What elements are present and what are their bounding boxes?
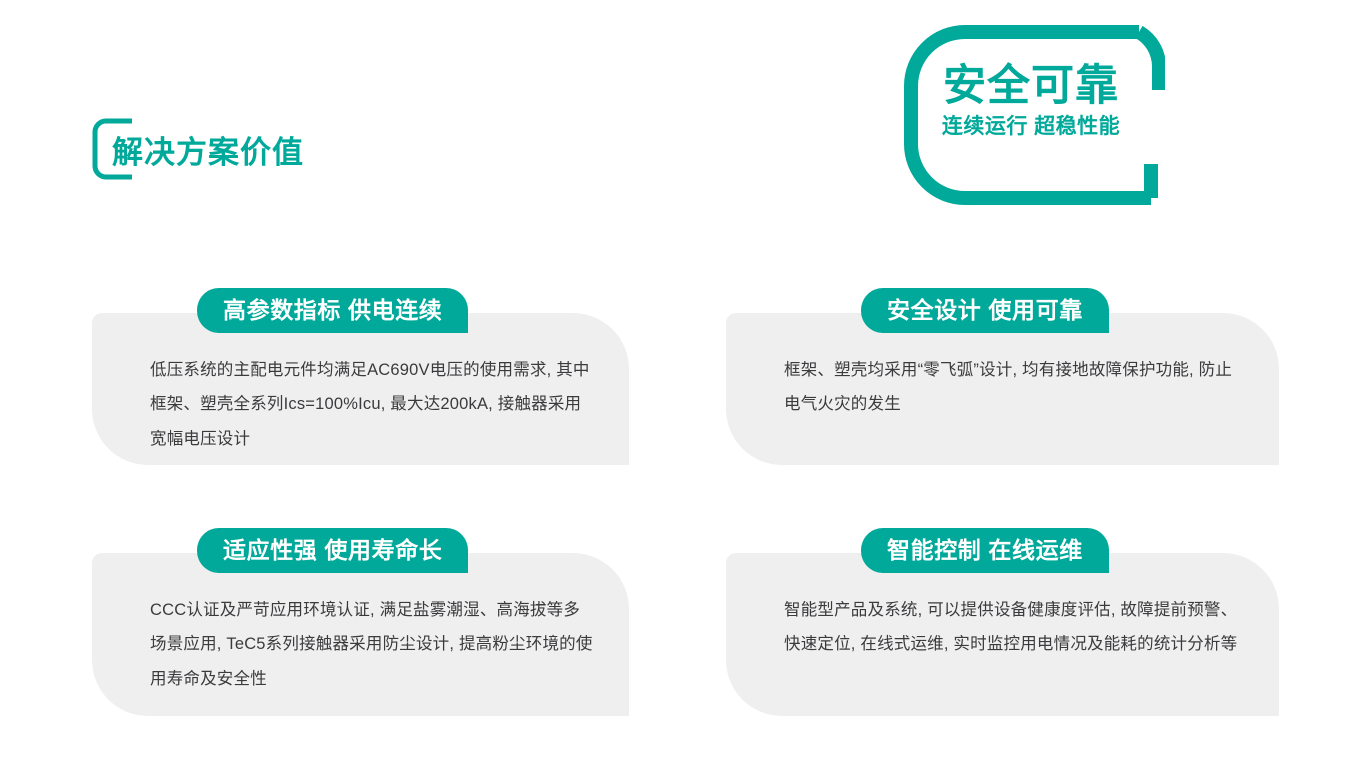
value-card: 智能控制 在线运维 智能型产品及系统, 可以提供设备健康度评估, 故障提前预警、… [726,553,1279,716]
card-tab-label: 高参数指标 供电连续 [197,288,468,333]
card-tab-label: 适应性强 使用寿命长 [197,528,468,573]
section-heading: 解决方案价值 [92,112,304,186]
card-body-text: 智能型产品及系统, 可以提供设备健康度评估, 故障提前预警、快速定位, 在线式运… [784,593,1239,662]
value-card: 高参数指标 供电连续 低压系统的主配电元件均满足AC690V电压的使用需求, 其… [92,313,629,465]
card-tab-label: 智能控制 在线运维 [861,528,1109,573]
card-body-text: CCC认证及严苛应用环境认证, 满足盐雾潮湿、高海拔等多场景应用, TeC5系列… [150,593,593,696]
hero-badge: 安全可靠 连续运行 超稳性能 [897,18,1165,210]
value-card: 适应性强 使用寿命长 CCC认证及严苛应用环境认证, 满足盐雾潮湿、高海拔等多场… [92,553,629,716]
page-title: 解决方案价值 [112,127,304,172]
card-tab-label: 安全设计 使用可靠 [861,288,1109,333]
card-body-text: 框架、塑壳均采用“零飞弧”设计, 均有接地故障保护功能, 防止电气火灾的发生 [784,353,1239,422]
hero-title: 安全可靠 [897,62,1165,110]
value-card: 安全设计 使用可靠 框架、塑壳均采用“零飞弧”设计, 均有接地故障保护功能, 防… [726,313,1279,465]
hero-subtitle: 连续运行 超稳性能 [897,113,1165,140]
card-body-text: 低压系统的主配电元件均满足AC690V电压的使用需求, 其中框架、塑壳全系列Ic… [150,353,593,456]
